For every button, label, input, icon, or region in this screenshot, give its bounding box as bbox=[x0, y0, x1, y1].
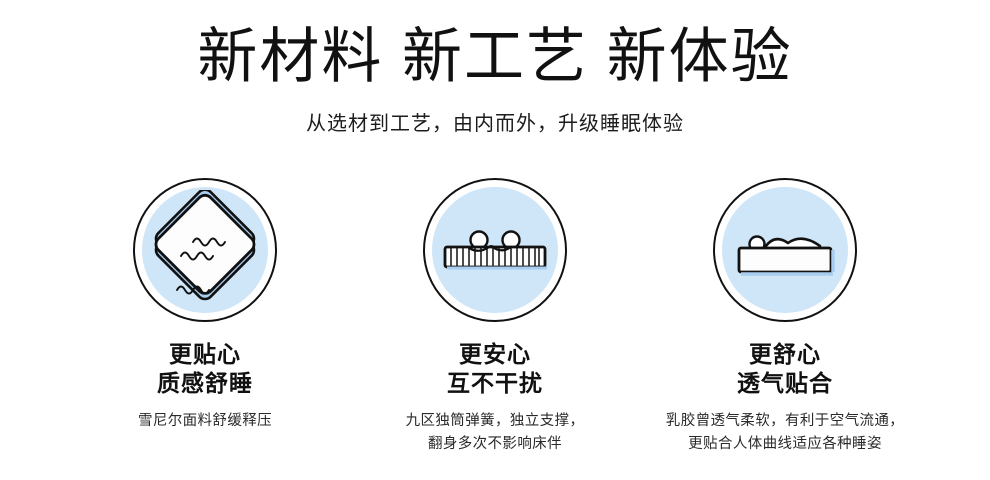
page-subtitle: 从选材到工艺，由内而外，升级睡眠体验 bbox=[0, 110, 990, 138]
feature-heading-line1: 更舒心 bbox=[737, 340, 833, 369]
feature-list: 更贴心 质感舒睡 雪尼尔面料舒缓释压 bbox=[0, 178, 990, 456]
feature-heading-line2: 质感舒睡 bbox=[157, 369, 253, 398]
feature-desc-fabric: 雪尼尔面料舒缓释压 bbox=[138, 410, 272, 433]
feature-heading-breathable: 更舒心 透气贴合 bbox=[737, 340, 833, 398]
feature-item-fabric: 更贴心 质感舒睡 雪尼尔面料舒缓释压 bbox=[60, 178, 350, 456]
pocket-spring-icon bbox=[435, 190, 555, 310]
icon-circle-spring bbox=[423, 178, 567, 322]
feature-desc-breathable: 乳胶曾透气柔软，有利于空气流通， 更贴合人体曲线适应各种睡姿 bbox=[666, 410, 904, 456]
promo-banner: 新材料 新工艺 新体验 从选材到工艺，由内而外，升级睡眠体验 bbox=[0, 0, 990, 480]
feature-desc-line1: 九区独筒弹簧，独立支撑， bbox=[406, 410, 585, 433]
feature-desc-line2: 更贴合人体曲线适应各种睡姿 bbox=[666, 433, 904, 456]
person-on-mattress-icon bbox=[725, 190, 845, 310]
feature-desc-line2: 翻身多次不影响床伴 bbox=[406, 433, 585, 456]
fabric-layers-icon bbox=[145, 190, 265, 310]
page-title: 新材料 新工艺 新体验 bbox=[0, 22, 990, 92]
feature-desc-line1: 雪尼尔面料舒缓释压 bbox=[138, 410, 272, 433]
feature-heading-line2: 互不干扰 bbox=[447, 369, 543, 398]
feature-item-breathable: 更舒心 透气贴合 乳胶曾透气柔软，有利于空气流通， 更贴合人体曲线适应各种睡姿 bbox=[640, 178, 930, 456]
feature-heading-line1: 更贴心 bbox=[157, 340, 253, 369]
feature-desc-line1: 乳胶曾透气柔软，有利于空气流通， bbox=[666, 410, 904, 433]
feature-desc-spring: 九区独筒弹簧，独立支撑， 翻身多次不影响床伴 bbox=[406, 410, 585, 456]
icon-circle-fabric bbox=[133, 178, 277, 322]
feature-heading-line1: 更安心 bbox=[447, 340, 543, 369]
feature-heading-fabric: 更贴心 质感舒睡 bbox=[157, 340, 253, 398]
feature-item-spring: 更安心 互不干扰 九区独筒弹簧，独立支撑， 翻身多次不影响床伴 bbox=[350, 178, 640, 456]
feature-heading-spring: 更安心 互不干扰 bbox=[447, 340, 543, 398]
icon-circle-breathable bbox=[713, 178, 857, 322]
feature-heading-line2: 透气贴合 bbox=[737, 369, 833, 398]
